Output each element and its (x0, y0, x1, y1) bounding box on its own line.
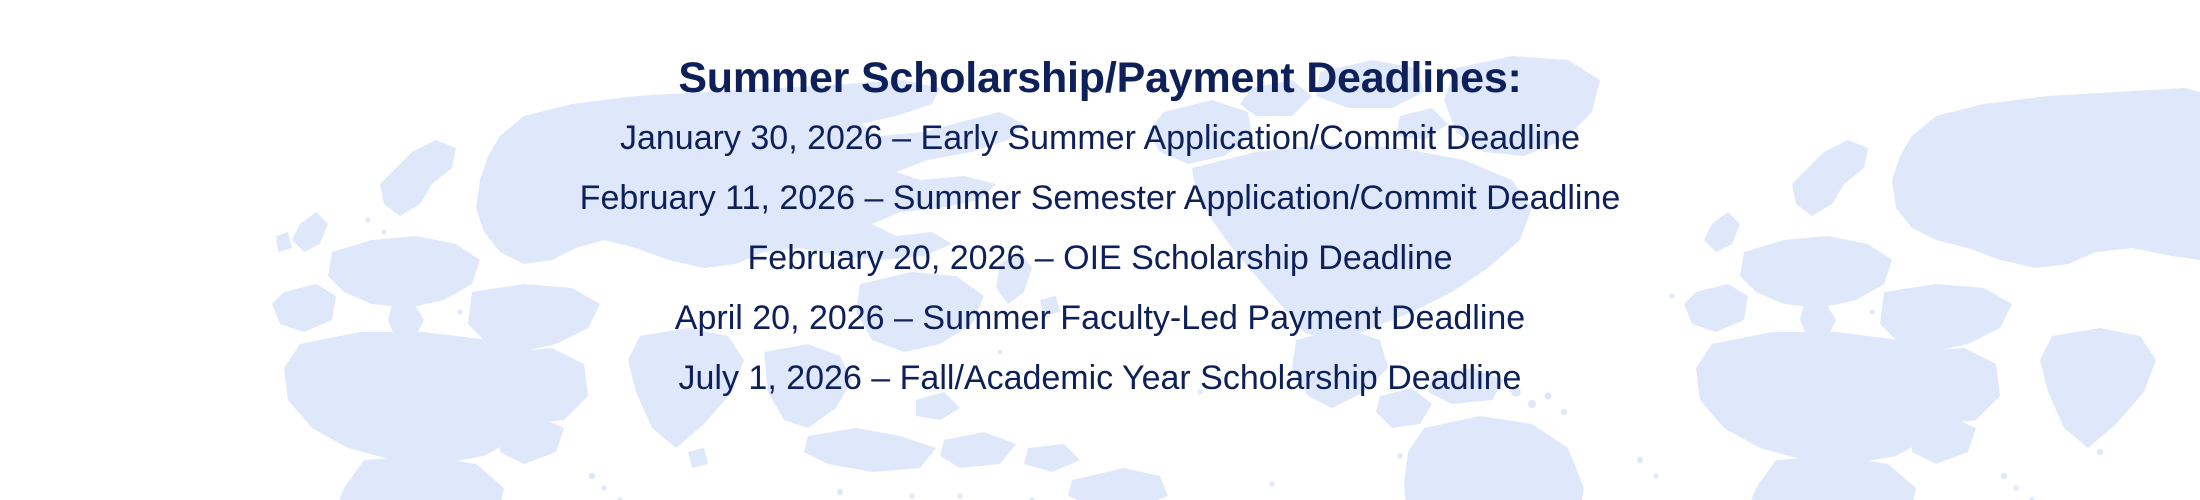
page-title: Summer Scholarship/Payment Deadlines: (678, 48, 1521, 108)
deadline-line-2: February 11, 2026 – Summer Semester Appl… (580, 168, 1621, 228)
deadline-line-3: February 20, 2026 – OIE Scholarship Dead… (748, 228, 1453, 288)
deadlines-banner: Summer Scholarship/Payment Deadlines: Ja… (0, 0, 2200, 500)
deadlines-content: Summer Scholarship/Payment Deadlines: Ja… (0, 0, 2200, 500)
deadline-line-5: July 1, 2026 – Fall/Academic Year Schola… (679, 348, 1522, 408)
deadline-line-4: April 20, 2026 – Summer Faculty-Led Paym… (675, 288, 1525, 348)
deadline-line-1: January 30, 2026 – Early Summer Applicat… (620, 108, 1580, 168)
